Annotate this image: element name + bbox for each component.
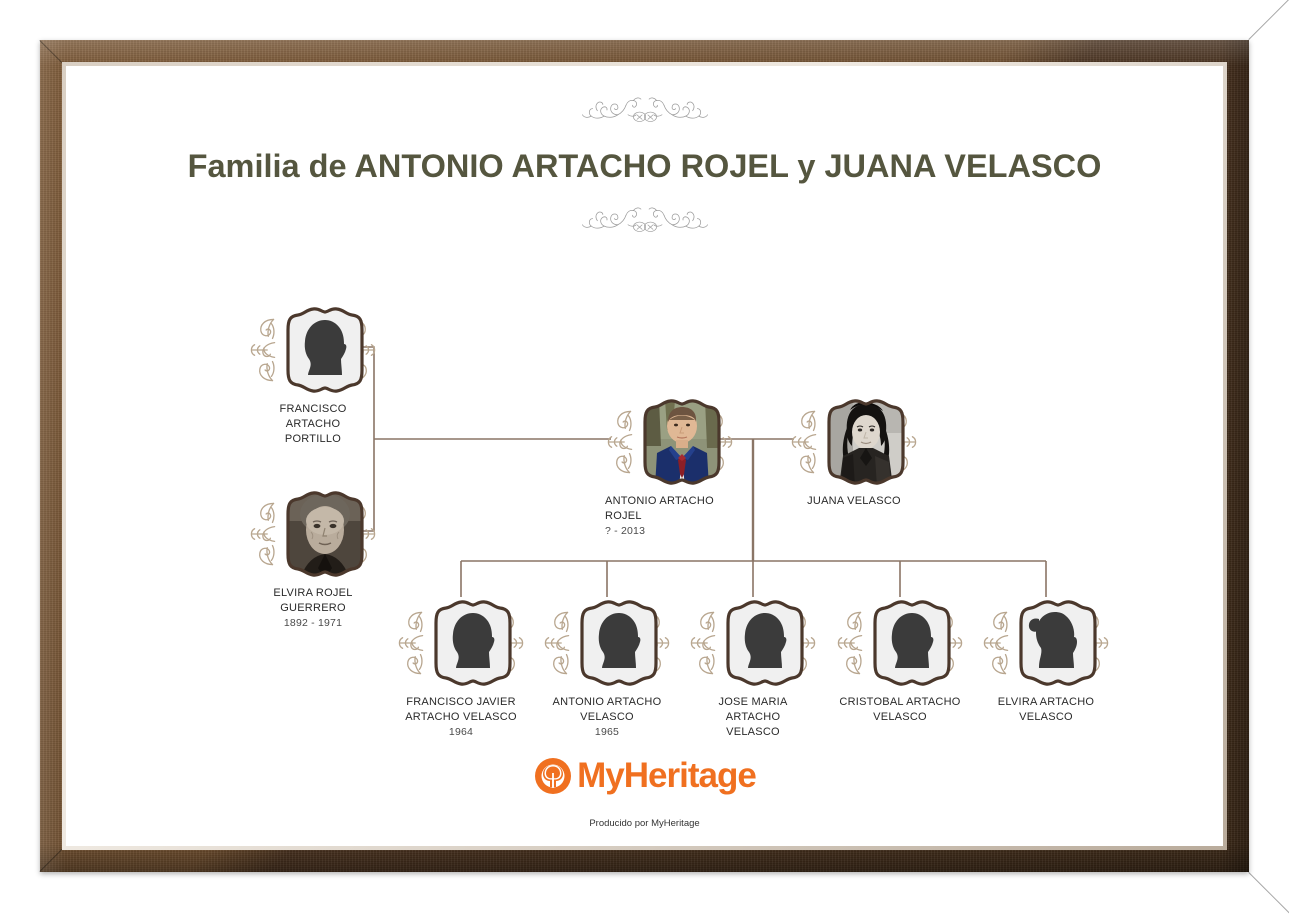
person-name-line1: ANTONIO ARTACHO xyxy=(605,494,735,509)
person-node-grandfather[interactable]: FRANCISCO ARTACHO PORTILLO xyxy=(252,304,374,447)
person-name-line1: ELVIRA ROJEL xyxy=(252,586,374,601)
person-name-line2: ROJEL xyxy=(605,509,735,524)
flourish-left-icon xyxy=(789,403,819,481)
portrait-grandfather xyxy=(266,304,360,396)
flourish-left-icon xyxy=(248,311,278,389)
flourish-left-icon xyxy=(688,604,718,682)
person-name-line2: VELASCO xyxy=(839,710,961,725)
person-node-grandmother[interactable]: ELVIRA ROJEL GUERRERO 1892 - 1971 xyxy=(252,488,374,631)
person-node-child-4[interactable]: ELVIRA ARTACHO VELASCO xyxy=(985,597,1107,725)
photo-man-blue-suit xyxy=(635,396,729,488)
cartouche-frame xyxy=(1011,597,1105,689)
cartouche-frame xyxy=(278,304,372,396)
flourish-left-icon xyxy=(981,604,1011,682)
portrait-child-1 xyxy=(560,597,654,689)
person-name-line1: FRANCISCO ARTACHO xyxy=(252,402,374,432)
cartouche-frame xyxy=(572,597,666,689)
person-dates: 1892 - 1971 xyxy=(252,616,374,631)
person-node-child-2[interactable]: JOSE MARIA ARTACHO VELASCO xyxy=(692,597,814,740)
person-name-line1: FRANCISCO JAVIER xyxy=(400,695,522,710)
person-name-line2: GUERRERO xyxy=(252,601,374,616)
frame-mitre-bottom-right xyxy=(1248,872,1289,915)
person-node-child-0[interactable]: FRANCISCO JAVIER ARTACHO VELASCO 1964 xyxy=(400,597,522,740)
portrait-child-2 xyxy=(706,597,800,689)
person-name-line2: VELASCO xyxy=(546,710,668,725)
produced-by-text: Producido por MyHeritage xyxy=(66,818,1223,829)
person-dates: ? - 2013 xyxy=(605,524,735,539)
flourish-left-icon xyxy=(248,495,278,573)
myheritage-tree-circle-logo-icon xyxy=(533,756,573,796)
chart-canvas: Familia de ANTONIO ARTACHO ROJEL y JUANA… xyxy=(66,66,1223,846)
person-name-line1: ELVIRA ARTACHO xyxy=(985,695,1107,710)
brand-name: MyHeritage xyxy=(577,756,756,796)
brand-logo: MyHeritage xyxy=(66,756,1223,801)
person-name-line2: ARTACHO VELASCO xyxy=(400,710,522,725)
flourish-left-icon xyxy=(605,403,635,481)
person-name-line1: JOSE MARIA ARTACHO xyxy=(692,695,814,725)
person-node-child-3[interactable]: CRISTOBAL ARTACHO VELASCO xyxy=(839,597,961,725)
portrait-father xyxy=(623,396,717,488)
cartouche-frame xyxy=(426,597,520,689)
portrait-grandmother xyxy=(266,488,360,580)
frame-mitre-top-right xyxy=(1248,0,1289,40)
person-name-line2: VELASCO xyxy=(985,710,1107,725)
person-name-line1: JUANA VELASCO xyxy=(793,494,915,509)
person-name-line1: CRISTOBAL ARTACHO xyxy=(839,695,961,710)
photo-woman-dark-hair xyxy=(819,396,913,488)
person-name-line2: VELASCO xyxy=(692,725,814,740)
person-node-mother[interactable]: JUANA VELASCO xyxy=(793,396,915,509)
photo-elderly-woman xyxy=(278,488,372,580)
cartouche-frame xyxy=(718,597,812,689)
portrait-child-0 xyxy=(414,597,508,689)
framed-poster: Familia de ANTONIO ARTACHO ROJEL y JUANA… xyxy=(40,40,1249,872)
portrait-child-3 xyxy=(853,597,947,689)
cartouche-frame xyxy=(865,597,959,689)
person-dates: 1965 xyxy=(546,725,668,740)
person-dates: 1964 xyxy=(400,725,522,740)
flourish-left-icon xyxy=(396,604,426,682)
portrait-mother xyxy=(807,396,901,488)
person-node-father[interactable]: ANTONIO ARTACHO ROJEL ? - 2013 xyxy=(605,396,735,539)
person-node-child-1[interactable]: ANTONIO ARTACHO VELASCO 1965 xyxy=(546,597,668,740)
person-name-line1: ANTONIO ARTACHO xyxy=(546,695,668,710)
portrait-child-4 xyxy=(999,597,1093,689)
flourish-left-icon xyxy=(835,604,865,682)
flourish-left-icon xyxy=(542,604,572,682)
person-name-line2: PORTILLO xyxy=(252,432,374,447)
